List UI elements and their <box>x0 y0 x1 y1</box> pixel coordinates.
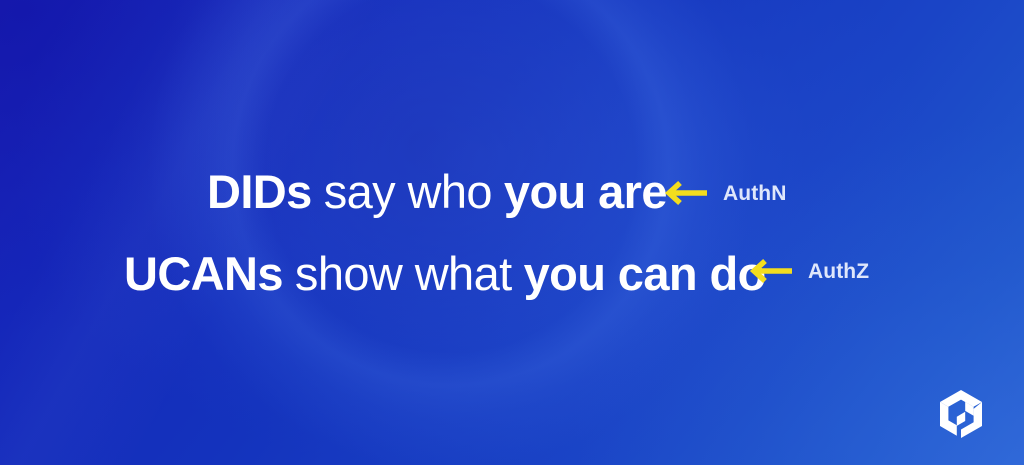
headline-segment-say-who: say who <box>324 165 492 218</box>
headline-line-dids: DIDssay whoyou are <box>207 168 667 215</box>
arrow-left-icon <box>748 258 794 284</box>
headline-segment-you-are: you are <box>504 165 667 218</box>
headline-block: DIDssay whoyou are UCANsshow whatyou can… <box>0 0 1024 465</box>
isometric-cube-logo-icon <box>935 387 987 439</box>
headline-line-ucans: UCANsshow whatyou can do <box>124 250 766 297</box>
annotation-label-authn: AuthN <box>723 183 786 204</box>
annotation-authz: AuthZ <box>748 258 869 284</box>
annotation-label-authz: AuthZ <box>808 261 869 282</box>
headline-segment-ucans: UCANs <box>124 247 283 300</box>
headline-segment-dids: DIDs <box>207 165 312 218</box>
slide-canvas: DIDssay whoyou are UCANsshow whatyou can… <box>0 0 1024 465</box>
arrow-left-icon <box>663 180 709 206</box>
annotation-authn: AuthN <box>663 180 786 206</box>
headline-segment-show-what: show what <box>295 247 512 300</box>
headline-segment-you-can-do: you can do <box>524 247 766 300</box>
